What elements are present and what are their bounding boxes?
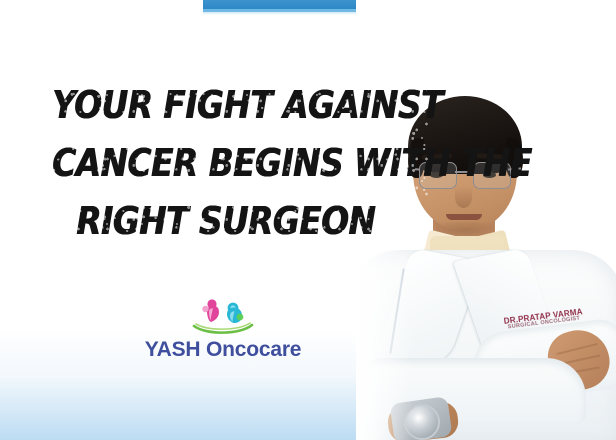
headline-line-2: CANCER BEGINS WITH THE xyxy=(52,134,399,192)
doctor-nose xyxy=(455,186,472,208)
wristwatch-dial xyxy=(412,412,428,428)
headline-line-1: YOUR FIGHT AGAINST xyxy=(52,76,399,134)
brand-logo-text: YASH Oncocare xyxy=(128,338,318,362)
headline: YOUR FIGHT AGAINST CANCER BEGINS WITH TH… xyxy=(24,76,428,250)
photo-top-fade xyxy=(356,0,616,64)
yash-oncocare-mark-icon xyxy=(190,296,256,336)
brand-logo[interactable]: YASH Oncocare xyxy=(128,296,318,362)
promo-banner: DR.PRATAP VARMA SURGICAL ONCOLOGIST CITI… xyxy=(0,0,616,440)
headline-line-3: RIGHT SURGEON xyxy=(52,192,399,250)
doctor-mouth xyxy=(446,214,482,220)
